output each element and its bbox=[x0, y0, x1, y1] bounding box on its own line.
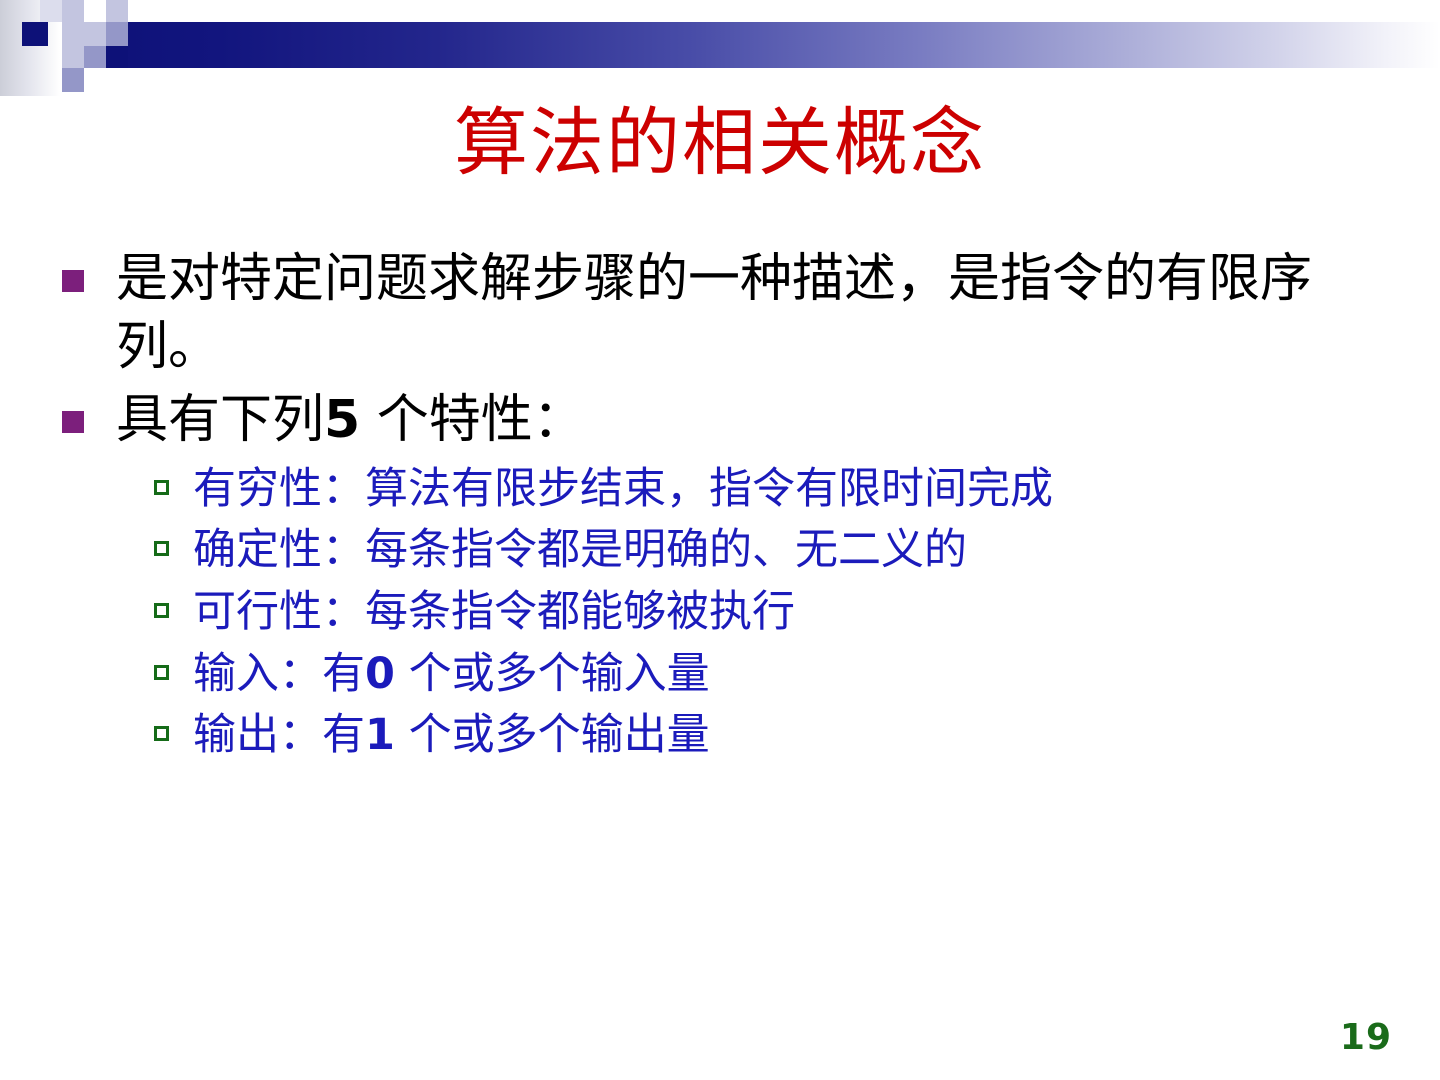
deco-square-mid-1 bbox=[62, 68, 84, 92]
sub-bullet-text: 可行性：每条指令都能够被执行 bbox=[193, 584, 1392, 642]
bullet-item: 具有下列5 个特性： bbox=[62, 387, 1392, 455]
sub-bullet-text: 确定性：每条指令都是明确的、无二义的 bbox=[193, 522, 1392, 580]
deco-square-light-1 bbox=[62, 0, 84, 22]
sub-bullet-hollow-square-icon bbox=[154, 541, 169, 556]
page-number: 19 bbox=[1340, 1017, 1392, 1058]
deco-square-mid-2 bbox=[84, 46, 106, 68]
deco-square-pale-1 bbox=[40, 0, 62, 22]
sub-bullet-item: 确定性：每条指令都是明确的、无二义的 bbox=[154, 522, 1392, 580]
bullet-text: 具有下列5 个特性： bbox=[116, 387, 1346, 455]
sub-bullet-list: 有穷性：算法有限步结束，指令有限时间完成 确定性：每条指令都是明确的、无二义的 … bbox=[62, 461, 1392, 765]
slide-body: 是对特定问题求解步骤的一种描述，是指令的有限序列。 具有下列5 个特性： 有穷性… bbox=[62, 246, 1392, 769]
sub-bullet-text: 输出：有1 个或多个输出量 bbox=[193, 707, 1392, 765]
sub-bullet-item: 输入：有0 个或多个输入量 bbox=[154, 646, 1392, 704]
deco-square-light-2 bbox=[62, 22, 84, 46]
deco-square-light-5 bbox=[106, 0, 128, 22]
bullet-square-icon bbox=[62, 411, 84, 433]
sub-bullet-text: 有穷性：算法有限步结束，指令有限时间完成 bbox=[193, 461, 1392, 519]
bullet-square-icon bbox=[62, 270, 84, 292]
slide-header-decoration bbox=[0, 0, 1440, 96]
sub-bullet-text: 输入：有0 个或多个输入量 bbox=[193, 646, 1392, 704]
deco-square-mid-3 bbox=[106, 22, 128, 46]
slide-title: 算法的相关概念 bbox=[0, 104, 1440, 182]
slide: 算法的相关概念 是对特定问题求解步骤的一种描述，是指令的有限序列。 具有下列5 … bbox=[0, 0, 1440, 1080]
sub-bullet-item: 可行性：每条指令都能够被执行 bbox=[154, 584, 1392, 642]
deco-square-navy-2 bbox=[106, 46, 128, 68]
deco-square-light-4 bbox=[84, 22, 106, 46]
header-gradient-bar bbox=[84, 22, 1440, 68]
sub-bullet-item: 有穷性：算法有限步结束，指令有限时间完成 bbox=[154, 461, 1392, 519]
sub-bullet-hollow-square-icon bbox=[154, 726, 169, 741]
sub-bullet-hollow-square-icon bbox=[154, 603, 169, 618]
bullet-text: 是对特定问题求解步骤的一种描述，是指令的有限序列。 bbox=[116, 246, 1346, 381]
bullet-item: 是对特定问题求解步骤的一种描述，是指令的有限序列。 bbox=[62, 246, 1392, 381]
deco-square-light-3 bbox=[62, 46, 84, 68]
sub-bullet-hollow-square-icon bbox=[154, 665, 169, 680]
sub-bullet-item: 输出：有1 个或多个输出量 bbox=[154, 707, 1392, 765]
deco-square-navy-1 bbox=[22, 22, 48, 46]
sub-bullet-hollow-square-icon bbox=[154, 480, 169, 495]
